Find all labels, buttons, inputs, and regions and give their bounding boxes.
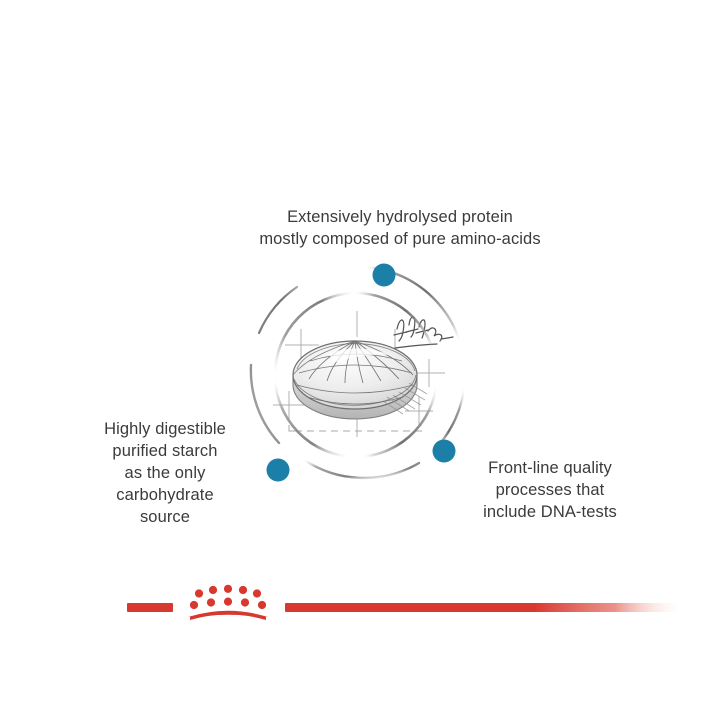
- brand-bar-right-segment: [285, 603, 687, 612]
- marker-dot-right: [433, 440, 456, 463]
- handwriting-annotation: [394, 317, 453, 348]
- marker-dot-top: [373, 264, 396, 287]
- promo-infographic: Extensively hydrolysed protein mostly co…: [0, 0, 714, 713]
- royal-canin-brand-bar: [0, 576, 714, 638]
- kibble-illustration: [293, 341, 427, 419]
- brand-bar-left-segment: [127, 603, 173, 612]
- callout-text-top: Extensively hydrolysed protein mostly co…: [170, 207, 630, 251]
- marker-dot-bottom-left: [267, 459, 290, 482]
- royal-canin-crown-icon: [188, 585, 268, 620]
- kibble-technical-sketch: [237, 255, 477, 495]
- measurement-baseline: [289, 425, 423, 431]
